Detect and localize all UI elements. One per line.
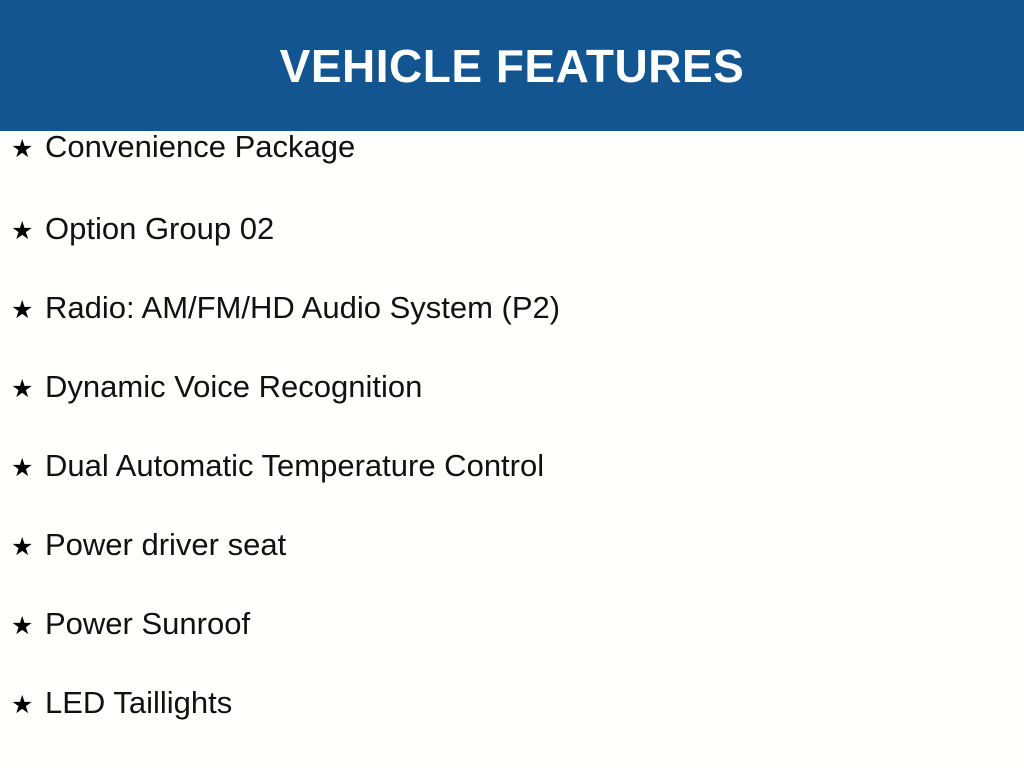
star-icon: ★ (11, 218, 45, 243)
feature-label: Dynamic Voice Recognition (45, 371, 422, 402)
list-item: ★ Option Group 02 (0, 213, 1024, 292)
star-icon: ★ (11, 692, 45, 717)
feature-label: Option Group 02 (45, 213, 274, 244)
star-icon: ★ (11, 376, 45, 401)
star-icon: ★ (11, 136, 45, 161)
list-item: ★ Convenience Package (0, 131, 1024, 213)
star-icon: ★ (11, 534, 45, 559)
vehicle-features-page: VEHICLE FEATURES ★ Convenience Package ★… (0, 0, 1024, 768)
list-item: ★ Radio: AM/FM/HD Audio System (P2) (0, 292, 1024, 371)
list-item: ★ Dynamic Voice Recognition (0, 371, 1024, 450)
list-item: ★ LED Taillights (0, 687, 1024, 766)
page-header: VEHICLE FEATURES (0, 0, 1024, 131)
list-item: ★ Dual Automatic Temperature Control (0, 450, 1024, 529)
feature-label: Convenience Package (45, 131, 355, 162)
star-icon: ★ (11, 613, 45, 638)
star-icon: ★ (11, 297, 45, 322)
feature-label: Radio: AM/FM/HD Audio System (P2) (45, 292, 560, 323)
feature-label: Power Sunroof (45, 608, 250, 639)
star-icon: ★ (11, 455, 45, 480)
list-item: ★ Power driver seat (0, 529, 1024, 608)
list-item: ★ Power Sunroof (0, 608, 1024, 687)
page-title: VEHICLE FEATURES (280, 43, 745, 89)
feature-label: Power driver seat (45, 529, 286, 560)
vehicle-features-list: ★ Convenience Package ★ Option Group 02 … (0, 131, 1024, 766)
feature-label: LED Taillights (45, 687, 232, 718)
feature-label: Dual Automatic Temperature Control (45, 450, 544, 481)
